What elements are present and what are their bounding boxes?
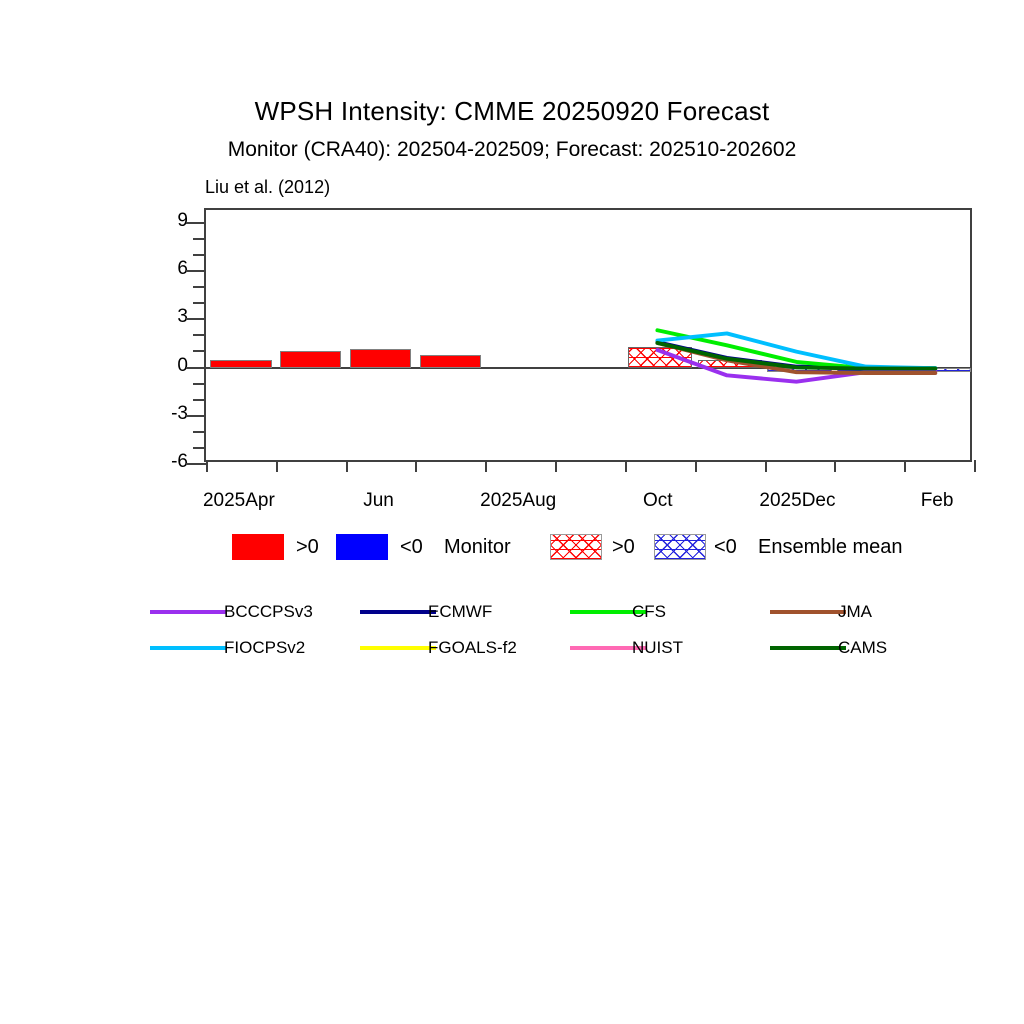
chart-page: WPSH Intensity: CMME 20250920 Forecast M…	[0, 0, 1024, 1024]
legend-label-nuist: NUIST	[632, 638, 683, 658]
legend-label-monitor-positive: >0	[296, 536, 319, 559]
y-tick-label: 0	[132, 355, 188, 377]
x-tick	[765, 460, 767, 472]
fill-legend: >0 <0 Monitor >0 <0 Ensemble mean	[0, 534, 1024, 570]
forecast-lines-group	[206, 210, 970, 460]
legend-label-cfs: CFS	[632, 602, 666, 622]
x-tick	[485, 460, 487, 472]
y-tick-major	[186, 270, 206, 272]
x-tick	[555, 460, 557, 472]
y-tick-minor	[193, 399, 206, 401]
legend-label-ensemble-negative: <0	[714, 536, 737, 559]
page-title: WPSH Intensity: CMME 20250920 Forecast	[0, 96, 1024, 127]
y-tick-label: -3	[132, 403, 188, 425]
legend-label-ecmwf: ECMWF	[428, 602, 492, 622]
y-tick-major	[186, 318, 206, 320]
x-tick	[695, 460, 697, 472]
legend-label-ensemble-positive: >0	[612, 536, 635, 559]
x-tick	[346, 460, 348, 472]
x-tick-label: Feb	[921, 490, 954, 512]
y-tick-label: 6	[132, 258, 188, 280]
y-tick-major	[186, 222, 206, 224]
x-tick	[625, 460, 627, 472]
y-tick-minor	[193, 447, 206, 449]
y-tick-label: -6	[132, 451, 188, 473]
y-tick-major	[186, 415, 206, 417]
y-tick-major	[186, 463, 206, 465]
legend-line-cams	[770, 646, 846, 650]
x-tick	[276, 460, 278, 472]
legend-line-ecmwf	[360, 610, 436, 614]
x-tick-label: Jun	[363, 490, 394, 512]
legend-line-bcccpsv3	[150, 610, 226, 614]
x-tick	[834, 460, 836, 472]
x-tick	[974, 460, 976, 472]
x-axis-labels: 2025AprJun2025AugOct2025DecFeb	[204, 484, 972, 518]
y-tick-minor	[193, 302, 206, 304]
x-tick-label: 2025Apr	[203, 490, 275, 512]
legend-label-monitor-negative: <0	[400, 536, 423, 559]
y-tick-minor	[193, 254, 206, 256]
y-tick-label: 9	[132, 210, 188, 232]
legend-line-fiocpsv2	[150, 646, 226, 650]
y-tick-major	[186, 367, 206, 369]
legend-swatch-ensemble-negative	[654, 534, 706, 560]
y-tick-minor	[193, 286, 206, 288]
y-axis-labels: 9630-3-6	[132, 208, 188, 462]
reference-annotation: Liu et al. (2012)	[205, 177, 330, 198]
x-tick	[904, 460, 906, 472]
legend-label-fiocpsv2: FIOCPSv2	[224, 638, 305, 658]
legend-line-jma	[770, 610, 846, 614]
y-tick-label: 3	[132, 306, 188, 328]
y-tick-minor	[193, 350, 206, 352]
y-tick-minor	[193, 238, 206, 240]
legend-label-fgoals-f2: FGOALS-f2	[428, 638, 517, 658]
x-tick	[206, 460, 208, 472]
legend-swatch-monitor-negative	[336, 534, 388, 560]
x-tick-label: Oct	[643, 490, 673, 512]
legend-label-ensemble-mean: Ensemble mean	[758, 536, 903, 559]
legend-line-fgoals-f2	[360, 646, 436, 650]
x-tick-label: 2025Dec	[759, 490, 835, 512]
y-tick-minor	[193, 431, 206, 433]
legend-swatch-monitor-positive	[232, 534, 284, 560]
legend-swatch-ensemble-positive	[550, 534, 602, 560]
model-legend: BCCCPSv3ECMWFCFSJMAFIOCPSv2FGOALS-f2NUIS…	[0, 596, 1024, 660]
page-subtitle: Monitor (CRA40): 202504-202509; Forecast…	[0, 138, 1024, 162]
x-tick-label: 2025Aug	[480, 490, 556, 512]
y-tick-minor	[193, 334, 206, 336]
legend-label-cams: CAMS	[838, 638, 887, 658]
x-tick	[415, 460, 417, 472]
legend-label-jma: JMA	[838, 602, 872, 622]
y-tick-minor	[193, 383, 206, 385]
plot-area	[204, 208, 972, 462]
legend-label-bcccpsv3: BCCCPSv3	[224, 602, 313, 622]
legend-label-monitor: Monitor	[444, 536, 511, 559]
